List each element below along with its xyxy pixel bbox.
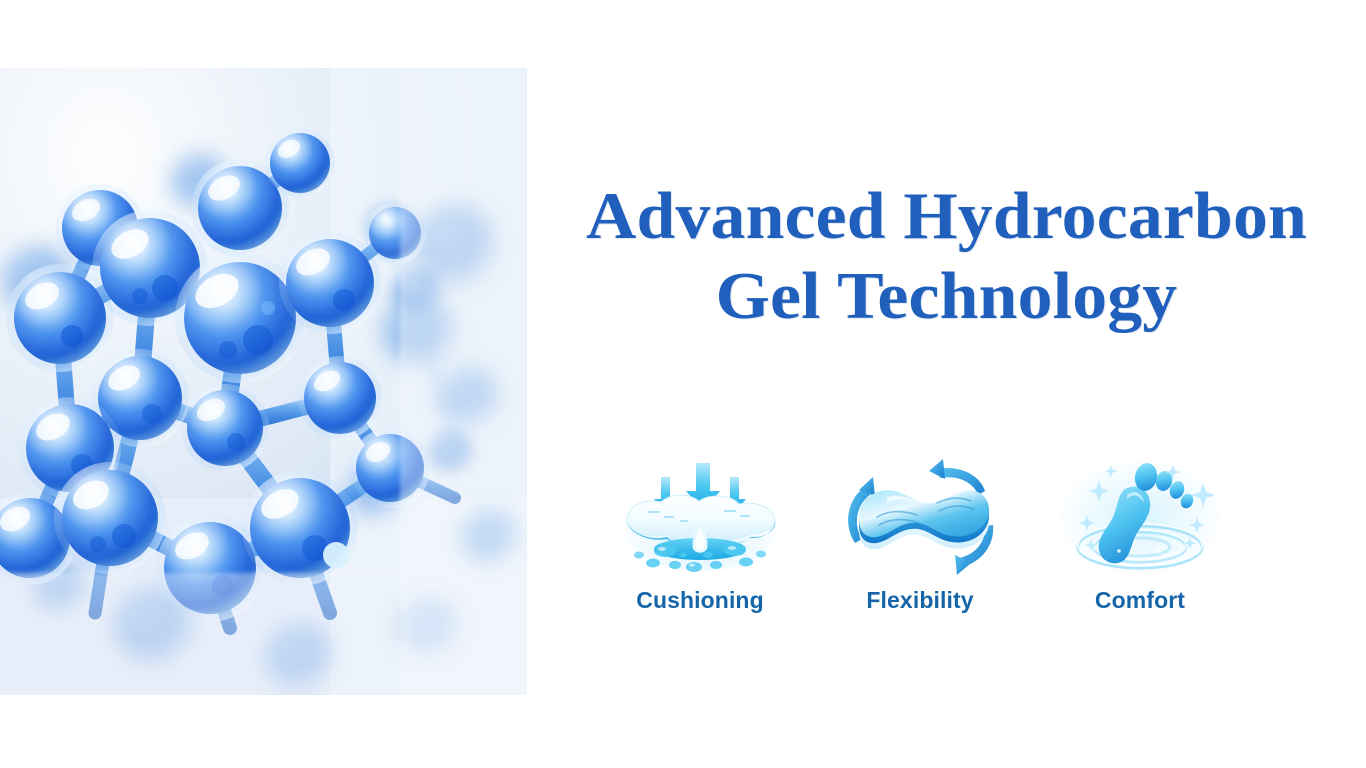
page-title: Advanced Hydrocarbon Gel Technology bbox=[527, 176, 1366, 336]
feature-item-cushioning: Cushioning bbox=[605, 455, 795, 614]
feature-list: Cushioning bbox=[605, 455, 1235, 614]
page-title-line-2: Gel Technology bbox=[510, 256, 1366, 336]
feature-label-cushioning: Cushioning bbox=[636, 587, 763, 614]
feature-item-comfort: Comfort bbox=[1045, 455, 1235, 614]
feature-label-flexibility: Flexibility bbox=[866, 587, 973, 614]
feature-item-flexibility: Flexibility bbox=[825, 455, 1015, 614]
molecular-structure-image bbox=[0, 68, 527, 695]
feature-label-comfort: Comfort bbox=[1095, 587, 1185, 614]
slide-canvas: Advanced Hydrocarbon Gel Technology bbox=[0, 0, 1366, 768]
footprint-sparkle-ripple-icon bbox=[1053, 455, 1228, 577]
content-column: Advanced Hydrocarbon Gel Technology bbox=[527, 0, 1366, 768]
flexible-insole-rotation-arrows-icon bbox=[833, 455, 1008, 577]
cushion-impact-arrows-icon bbox=[613, 455, 788, 577]
page-title-line-1: Advanced Hydrocarbon bbox=[510, 176, 1366, 256]
